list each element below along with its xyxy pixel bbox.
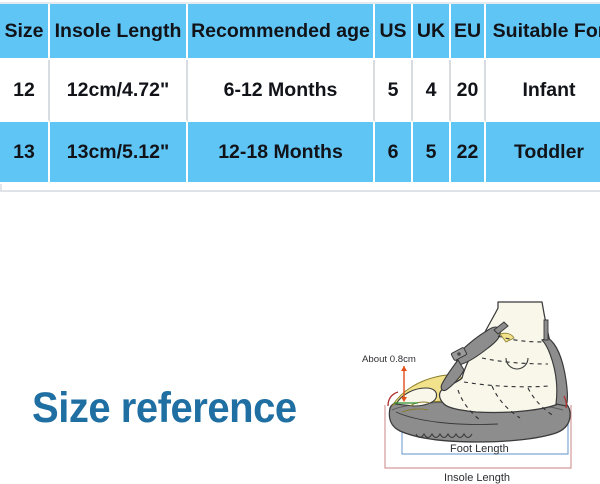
header-cell-size: Size (0, 4, 50, 60)
header-cell-uk: UK (413, 4, 451, 60)
shoe-upper-and-foot (396, 302, 558, 425)
cell-insole-length: 12cm/4.72" (50, 60, 188, 122)
cell-eu: 20 (451, 60, 486, 122)
header-cell-suitable-for: Suitable For (486, 4, 600, 60)
cell-suitable-for: Infant (486, 60, 600, 122)
header-cell-recommended-age: Recommended age (188, 4, 375, 60)
shoe-size-diagram: About 0.8cm Foot Length Insole Length (358, 300, 600, 484)
cell-eu: 22 (451, 122, 486, 184)
size-chart-table: Size Insole Length Recommended age US UK… (0, 4, 600, 184)
toe-gap-label: About 0.8cm (362, 354, 416, 365)
cell-uk: 4 (413, 60, 451, 122)
table-bottom-rule (0, 190, 600, 192)
header-cell-insole-length: Insole Length (50, 4, 188, 60)
cell-uk: 5 (413, 122, 451, 184)
insole-length-label: Insole Length (444, 472, 510, 484)
header-cell-eu: EU (451, 4, 486, 60)
table-header-row: Size Insole Length Recommended age US UK… (0, 4, 600, 60)
cell-us: 6 (375, 122, 413, 184)
cell-recommended-age: 6-12 Months (188, 60, 375, 122)
cell-us: 5 (375, 60, 413, 122)
foot-length-label: Foot Length (450, 443, 509, 455)
cell-recommended-age: 12-18 Months (188, 122, 375, 184)
header-cell-us: US (375, 4, 413, 60)
cell-size: 12 (0, 60, 50, 122)
size-reference-title: Size reference (32, 385, 297, 431)
cell-insole-length: 13cm/5.12" (50, 122, 188, 184)
cell-size: 13 (0, 122, 50, 184)
cell-suitable-for: Toddler (486, 122, 600, 184)
table-row: 13 13cm/5.12" 12-18 Months 6 5 22 Toddle… (0, 122, 600, 184)
table-row: 12 12cm/4.72" 6-12 Months 5 4 20 Infant (0, 60, 600, 122)
